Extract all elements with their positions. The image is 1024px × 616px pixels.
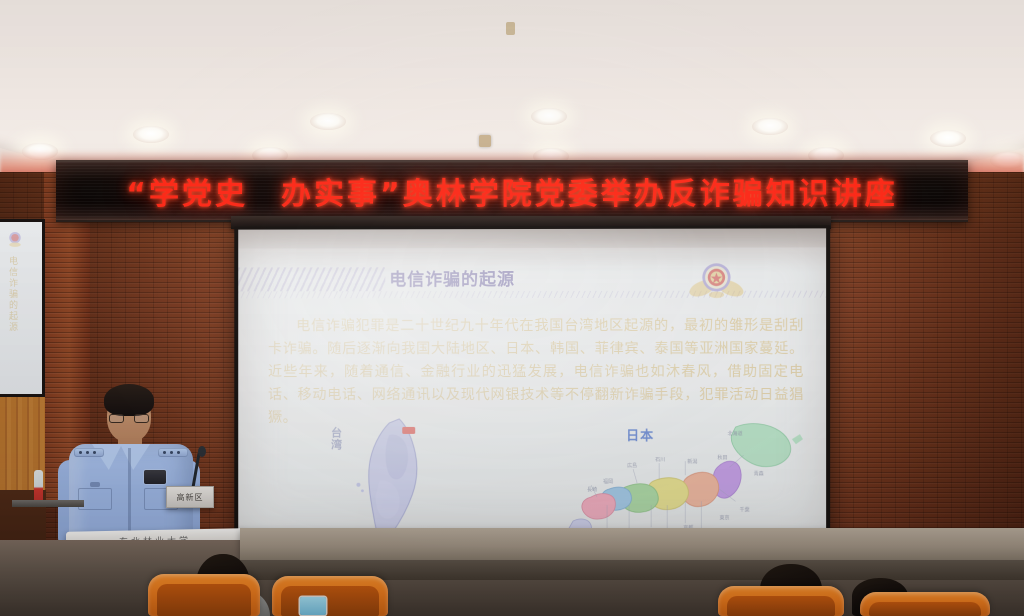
seat[interactable] bbox=[860, 592, 990, 616]
slide-title: 电信诈骗的起源 bbox=[389, 265, 515, 290]
seat[interactable] bbox=[718, 586, 844, 616]
projection-screen: 电信诈骗的起源 电信诈骗犯罪是二十世纪九十年代在我国台湾地区起源的，最初的雏形是… bbox=[238, 228, 826, 540]
svg-text:福岡: 福岡 bbox=[603, 478, 613, 485]
downlight bbox=[930, 130, 966, 147]
svg-text:秋田: 秋田 bbox=[717, 454, 727, 461]
japan-map: 北海道青森 秋田新潟 石川広島 福岡長崎 鹿児島熊本 高知大阪 京都愛知 東京千… bbox=[567, 419, 804, 541]
seat-cushion bbox=[869, 602, 981, 616]
downlight bbox=[133, 126, 169, 143]
taiwan-map bbox=[349, 415, 437, 541]
audience-tablet-screen bbox=[300, 597, 326, 615]
svg-text:広島: 広島 bbox=[627, 462, 637, 469]
side-projection-screen: 电信诈骗的起源 bbox=[0, 222, 42, 394]
svg-text:青森: 青森 bbox=[754, 470, 764, 477]
water-bottle bbox=[34, 470, 43, 502]
side-screen-text: 电信诈骗的起源 bbox=[6, 256, 19, 333]
speaker-epaulet-left bbox=[74, 448, 104, 457]
seat[interactable] bbox=[272, 576, 388, 616]
downlight bbox=[752, 118, 788, 135]
svg-text:千葉: 千葉 bbox=[740, 506, 750, 513]
projection-screen-frame: 电信诈骗的起源 电信诈骗犯罪是二十世纪九十年代在我国台湾地区起源的，最初的雏形是… bbox=[234, 225, 830, 544]
ceiling-vent-icon bbox=[506, 22, 515, 35]
side-screen-emblem-icon bbox=[4, 228, 26, 250]
led-banner-text: “学党史 办实事”奥林学院党委举办反诈骗知识讲座 bbox=[56, 169, 968, 213]
speaker-pocket-flap-left bbox=[90, 482, 100, 487]
seat-cushion bbox=[727, 596, 835, 616]
seat[interactable] bbox=[148, 574, 260, 616]
lecture-hall-scene: “学党史 办实事”奥林学院党委举办反诈骗知识讲座 电信诈骗的起源 bbox=[0, 0, 1024, 616]
led-banner: “学党史 办实事”奥林学院党委举办反诈骗知识讲座 bbox=[56, 160, 968, 222]
speaker-glasses-icon bbox=[109, 414, 149, 423]
speaker-hair bbox=[104, 384, 154, 416]
speaker-epaulet-right bbox=[158, 448, 188, 457]
seat-cushion bbox=[157, 584, 251, 616]
taiwan-map-label: 台湾 bbox=[328, 427, 342, 451]
slide-hatch-decoration bbox=[238, 267, 385, 291]
side-table bbox=[12, 500, 84, 507]
downlight bbox=[310, 113, 346, 130]
china-police-emblem-icon bbox=[689, 255, 743, 309]
side-sign-text: 高新区 bbox=[177, 492, 204, 503]
desk-ledge bbox=[240, 528, 1024, 562]
speaker-name-badge bbox=[144, 470, 166, 484]
seat-cushion bbox=[281, 586, 379, 616]
smoke-detector-icon bbox=[479, 135, 491, 147]
ceiling bbox=[0, 0, 1024, 176]
microphone-head-icon bbox=[198, 446, 206, 457]
downlight bbox=[531, 108, 567, 125]
svg-text:新潟: 新潟 bbox=[687, 458, 697, 465]
svg-text:石川: 石川 bbox=[655, 457, 665, 463]
svg-text:東京: 東京 bbox=[719, 514, 729, 521]
slide-body-text: 电信诈骗犯罪是二十世纪九十年代在我国台湾地区起源的，最初的雏形是刮刮卡诈骗。随后… bbox=[268, 315, 804, 430]
side-sign: 高新区 bbox=[166, 486, 214, 508]
presentation-slide: 电信诈骗的起源 电信诈骗犯罪是二十世纪九十年代在我国台湾地区起源的，最初的雏形是… bbox=[238, 228, 826, 540]
audience-foreground bbox=[0, 540, 1024, 616]
svg-text:長崎: 長崎 bbox=[587, 486, 597, 493]
svg-text:北海道: 北海道 bbox=[727, 430, 742, 437]
